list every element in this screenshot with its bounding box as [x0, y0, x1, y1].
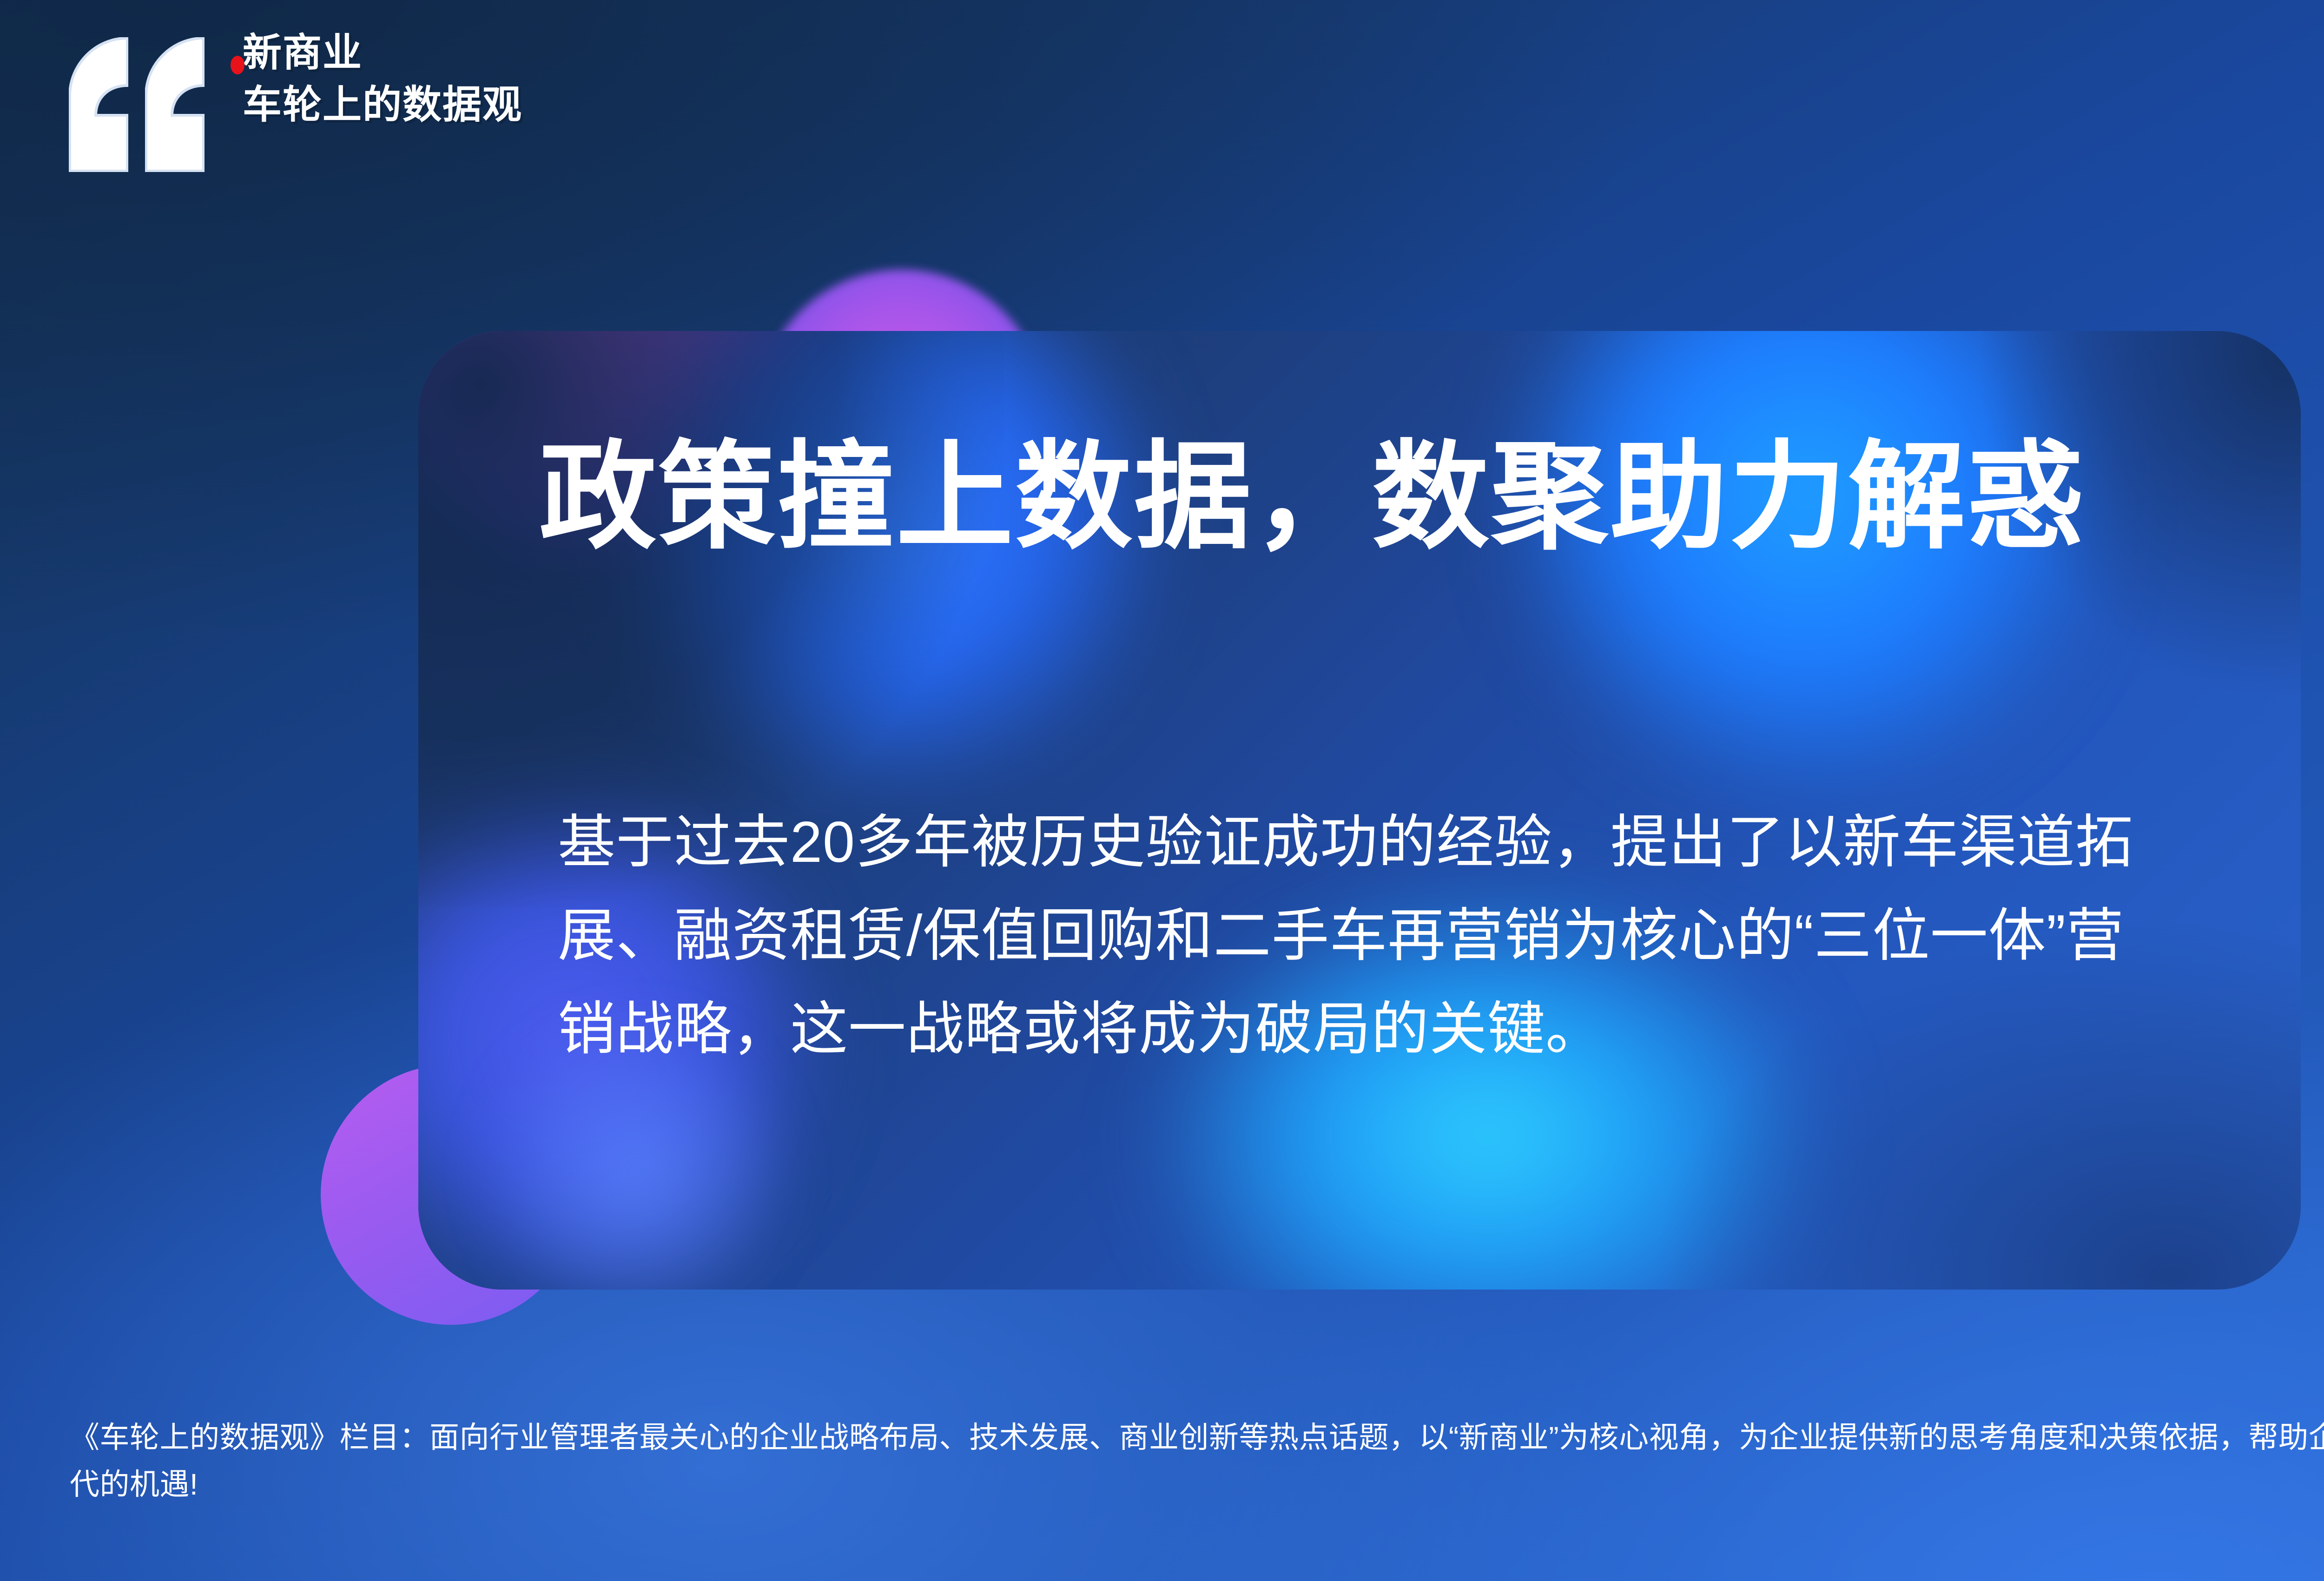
footer-description: 《车轮上的数据观》栏目：面向行业管理者最关心的企业战略布局、技术发展、商业创新等… — [70, 1414, 2324, 1508]
brand-text: 新商业 车轮上的数据观 — [238, 27, 522, 126]
brand-header: 新商业 车轮上的数据观 — [69, 27, 522, 172]
quote-mark — [69, 37, 205, 172]
left-double-quote-icon — [69, 37, 128, 172]
left-double-quote-icon-second — [145, 37, 205, 172]
card-text-wrap: 政策撞上数据，数聚助力解惑 基于过去20多年被历史验证成功的经验，提出了以新车渠… — [418, 331, 2301, 1290]
brand-name-secondary: 车轮上的数据观 — [238, 83, 522, 126]
card-paragraph: 基于过去20多年被历史验证成功的经验，提出了以新车渠道拓展、融资租赁/保值回购和… — [558, 796, 2152, 1076]
content-card: 政策撞上数据，数聚助力解惑 基于过去20多年被历史验证成功的经验，提出了以新车渠… — [418, 331, 2301, 1290]
brand-name-primary: 新商业 — [238, 31, 522, 74]
brand-line1-text: 新商业 — [243, 31, 363, 74]
red-dot-icon — [231, 56, 244, 74]
page-title: 政策撞上数据，数聚助力解惑 — [539, 434, 2086, 561]
